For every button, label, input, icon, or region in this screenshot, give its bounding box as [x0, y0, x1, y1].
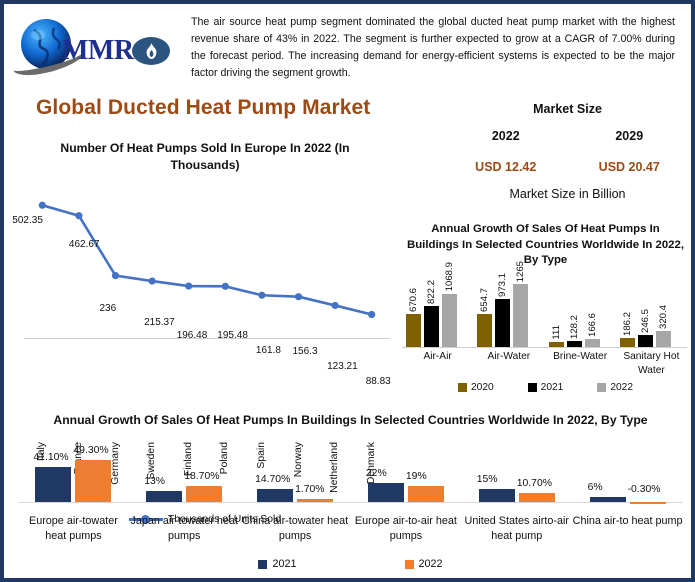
mid-bar-chart-legend: 202020212022 [400, 382, 691, 393]
bottom-bar [257, 489, 293, 501]
mid-legend-item: 2021 [528, 382, 564, 393]
market-size-value-2022: USD 12.42 [444, 160, 568, 174]
line-data-point [222, 282, 229, 289]
market-size-title: Market Size [444, 102, 691, 116]
mid-bar [477, 314, 492, 347]
bottom-bar [75, 460, 111, 501]
mid-category-label: Brine-Water [545, 350, 616, 364]
bottom-category-label: China air-towater heat pumps [240, 514, 351, 544]
bottom-legend-label: 2021 [272, 558, 296, 570]
market-size-panel: Market Size 2022 2029 USD 12.42 USD 20.4… [444, 102, 691, 201]
mid-bar-chart-categories: Air-AirAir-WaterBrine-WaterSanitary Hot … [400, 350, 691, 386]
bottom-bar-value-label: 41.10% [33, 452, 68, 463]
bottom-bar-value-label: 22% [366, 468, 387, 479]
mid-bar-group: 654.7973.11265 [477, 272, 548, 347]
mid-category-label: Air-Water [473, 350, 544, 364]
mid-bar-value-label: 654.7 [479, 288, 490, 312]
bottom-legend-label: 2022 [419, 558, 443, 570]
bottom-bar [408, 486, 444, 502]
line-value-label: 88.83 [366, 376, 391, 387]
line-data-point [75, 212, 82, 219]
header: MMR The air source heat pump segment dom… [4, 4, 691, 90]
mid-legend-label: 2021 [541, 382, 564, 393]
market-size-year-2029: 2029 [568, 129, 692, 143]
bottom-legend-swatch [258, 560, 267, 569]
mid-bar-group: 186.2246.5320.4 [620, 272, 691, 347]
line-data-point [368, 311, 375, 318]
mid-category-label: Air-Air [402, 350, 473, 364]
bottom-category-label: Europe air-to-air heat pumps [351, 514, 462, 544]
line-chart: Number Of Heat Pumps Sold In Europe In 2… [10, 140, 400, 400]
mid-bar-value-label: 166.6 [587, 313, 598, 337]
bottom-category-label: Japan air-towater heat pumps [129, 514, 240, 544]
bottom-category-label: United States airto-air heat pump [461, 514, 572, 544]
bottom-bar-value-label: 49.30% [73, 445, 108, 456]
mid-bar [567, 341, 582, 347]
bottom-bar-group: 14.70%1.70% [240, 432, 351, 510]
bottom-bar-group: 6%-0.30% [572, 432, 683, 510]
line-value-label: 195.48 [217, 330, 248, 341]
mid-bar [549, 342, 564, 348]
market-size-value-2029: USD 20.47 [568, 160, 692, 174]
bottom-bar-value-label: 18.70% [184, 471, 219, 482]
bottom-category-label: Europe air-towater heat pumps [18, 514, 129, 544]
mid-bar [585, 339, 600, 347]
bottom-bar-chart-categories: Europe air-towater heat pumpsJapan air-t… [10, 514, 691, 558]
infographic-page: MMR The air source heat pump segment dom… [0, 0, 695, 582]
mid-bar-value-label: 128.2 [569, 315, 580, 339]
mid-bar-chart-axis [402, 347, 687, 348]
brand-logo: MMR [4, 4, 189, 90]
bottom-bar-value-label: 14.70% [255, 474, 290, 485]
bottom-bar [297, 499, 333, 502]
line-value-label: 161.8 [256, 345, 281, 356]
bottom-bar-value-label: 6% [588, 482, 603, 493]
mid-bar-value-label: 973.1 [497, 273, 508, 297]
mid-bar [638, 335, 653, 347]
mid-bar [656, 331, 671, 347]
bottom-bar-chart-legend: 20212022 [10, 558, 691, 570]
mid-bar [406, 314, 421, 348]
mid-bar-value-label: 246.5 [640, 309, 651, 333]
mid-category-label: Sanitary Hot Water [616, 350, 687, 377]
mid-bar-value-label: 1265 [515, 261, 526, 282]
bottom-bar-value-label: 13% [144, 476, 165, 487]
line-value-label: 502.35 [12, 215, 43, 226]
line-data-point [258, 291, 265, 298]
mid-bar-group: 670.6822.21068.9 [406, 272, 477, 347]
bottom-bar-value-label: 15% [477, 474, 498, 485]
line-value-label: 236 [100, 303, 117, 314]
bottom-bar [590, 497, 626, 502]
page-title: Global Ducted Heat Pump Market [36, 96, 370, 120]
line-data-point [295, 293, 302, 300]
bottom-bar-value-label: 1.70% [295, 484, 324, 495]
bottom-bar [35, 467, 71, 501]
mid-bar-value-label: 1068.9 [444, 262, 455, 291]
header-paragraph: The air source heat pump segment dominat… [189, 4, 691, 83]
mid-legend-item: 2022 [597, 382, 633, 393]
bottom-bar-group: 41.10%49.30% [18, 432, 129, 510]
bottom-bar-chart: Annual Growth Of Sales Of Heat Pumps In … [10, 412, 691, 582]
bottom-legend-swatch [405, 560, 414, 569]
mid-bar [424, 306, 439, 347]
mid-bar-chart-plot: 670.6822.21068.9654.7973.11265111128.216… [400, 272, 691, 348]
mid-bar-value-label: 670.6 [408, 288, 419, 312]
bottom-legend-item: 2021 [258, 558, 296, 570]
bottom-bar [368, 483, 404, 501]
market-size-footer: Market Size in Billion [444, 187, 691, 201]
mid-bar [620, 338, 635, 347]
bottom-bar [186, 486, 222, 502]
line-data-point [112, 272, 119, 279]
mid-bar-group: 111128.2166.6 [549, 272, 620, 347]
logo-wordmark: MMR [62, 35, 134, 67]
mid-bar-value-label: 111 [551, 325, 562, 340]
bottom-bar [479, 489, 515, 502]
line-value-label: 123.21 [327, 361, 358, 372]
mid-bar-value-label: 186.2 [622, 312, 633, 336]
mid-legend-item: 2020 [458, 382, 494, 393]
bottom-bar-group: 22%19% [351, 432, 462, 510]
mid-bar [442, 294, 457, 347]
bottom-category-label: China air-to heat pump [572, 514, 683, 529]
market-size-year-2022: 2022 [444, 129, 568, 143]
mid-legend-swatch [458, 383, 467, 392]
line-value-label: 196.48 [177, 330, 208, 341]
bottom-bar-chart-plot: 41.10%49.30%13%18.70%14.70%1.70%22%19%15… [10, 432, 691, 510]
bottom-bar [519, 493, 555, 502]
bottom-bar [146, 491, 182, 502]
bottom-bar-group: 13%18.70% [129, 432, 240, 510]
line-data-point [185, 282, 192, 289]
line-value-label: 462.67 [69, 239, 100, 250]
mid-bar [513, 284, 528, 347]
bottom-bar [630, 502, 666, 505]
flame-icon [132, 37, 170, 65]
line-data-point [39, 201, 46, 208]
mid-bar-value-label: 320.4 [658, 305, 669, 329]
bottom-bar-chart-title: Annual Growth Of Sales Of Heat Pumps In … [10, 412, 691, 430]
line-data-point [149, 277, 156, 284]
bottom-bar-value-label: 10.70% [517, 478, 552, 489]
line-data-point [332, 301, 339, 308]
line-value-label: 215.37 [144, 317, 175, 328]
bottom-bar-value-label: 19% [406, 471, 427, 482]
mid-legend-label: 2022 [610, 382, 633, 393]
bottom-legend-item: 2022 [405, 558, 443, 570]
bottom-bar-value-label: -0.30% [628, 484, 661, 495]
line-value-label: 156.3 [293, 346, 318, 357]
mid-legend-label: 2020 [471, 382, 494, 393]
line-chart-title: Number Of Heat Pumps Sold In Europe In 2… [10, 140, 400, 175]
mid-bar-chart: Annual Growth Of Sales Of Heat Pumps In … [400, 222, 691, 402]
bottom-bar-group: 15%10.70% [461, 432, 572, 510]
mid-bar-value-label: 822.2 [426, 280, 437, 304]
mid-legend-swatch [528, 383, 537, 392]
mid-legend-swatch [597, 383, 606, 392]
line-chart-plot: 502.35462.67236215.37196.48195.48161.815… [10, 178, 400, 346]
mid-bar [495, 299, 510, 348]
